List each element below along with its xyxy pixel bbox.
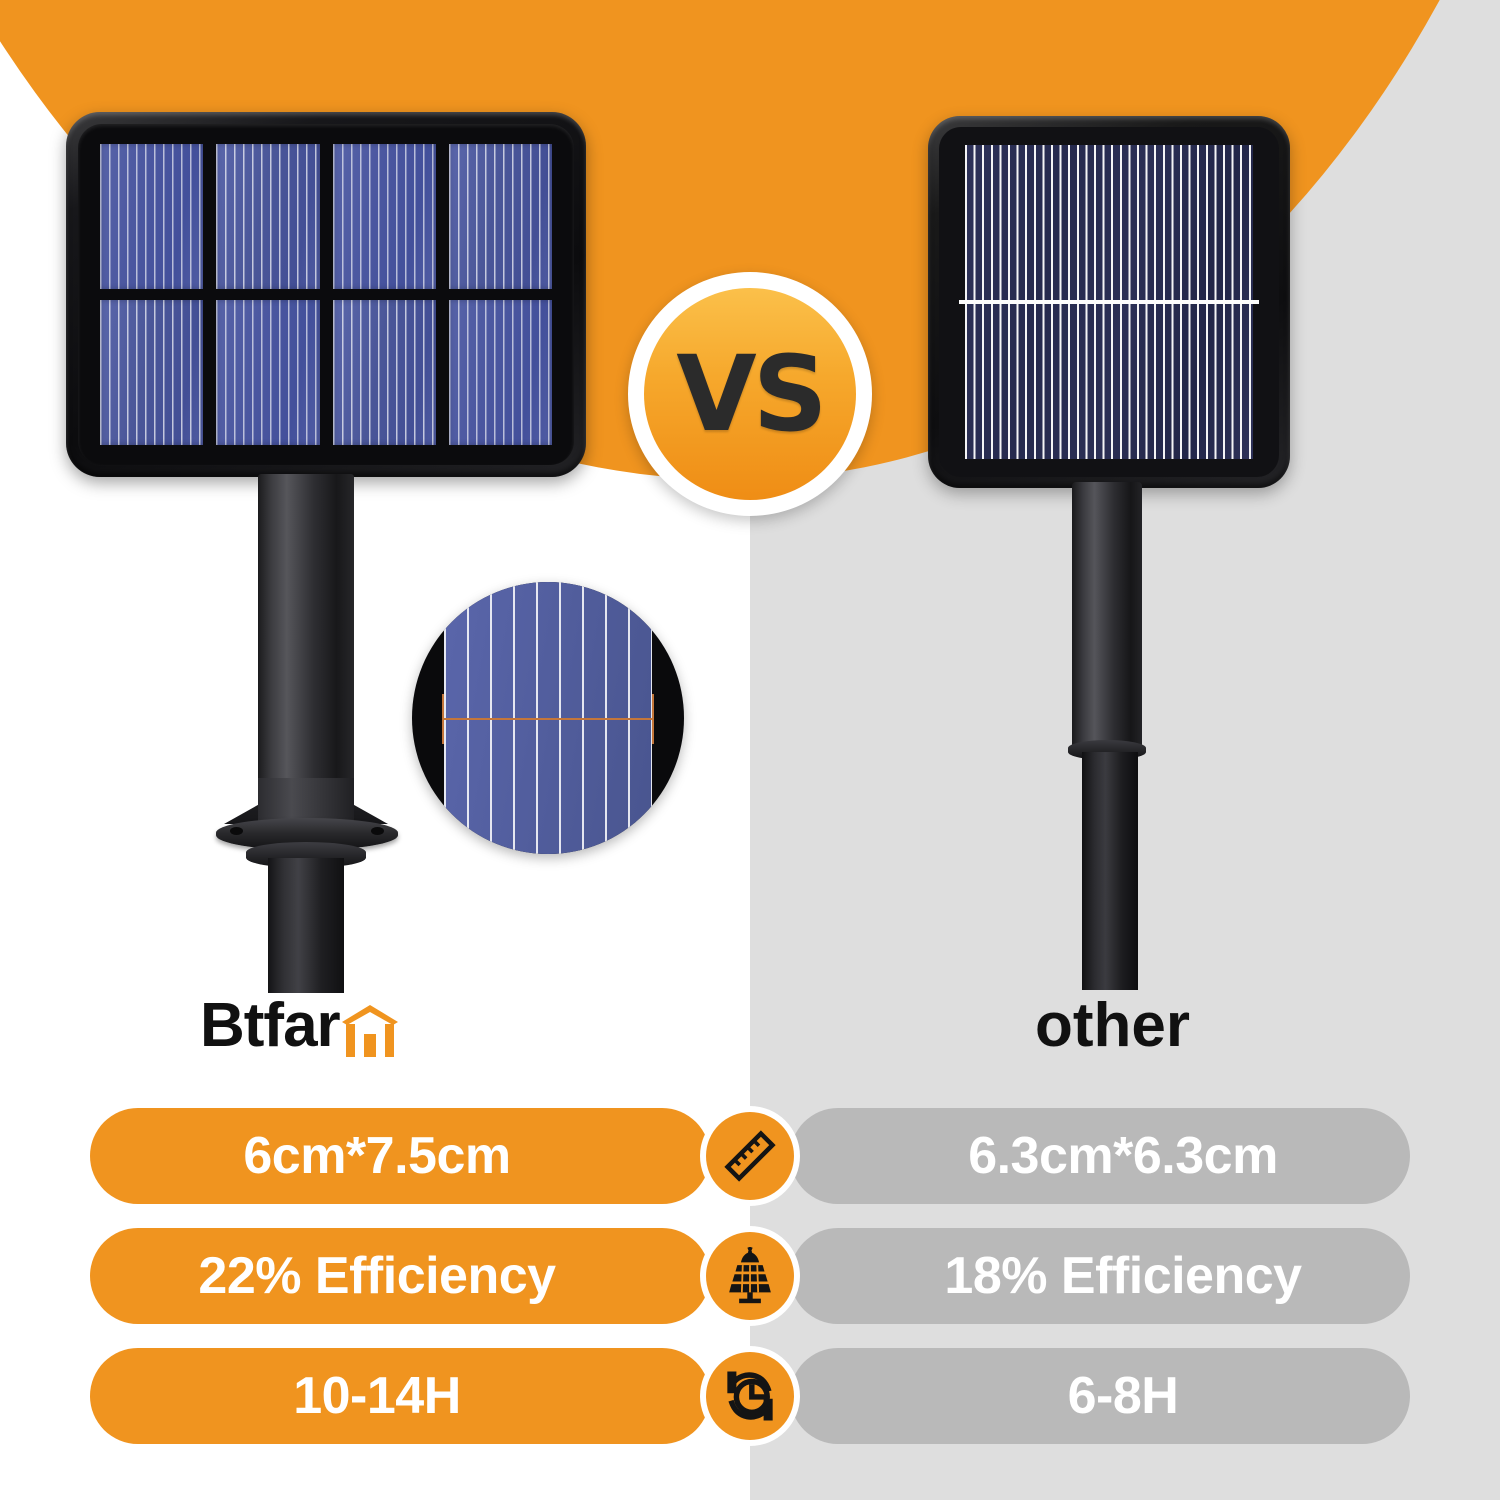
vs-label: VS: [676, 342, 823, 446]
comparison-row: 10-14H 6-8H: [0, 1348, 1500, 1444]
comparison-row: 22% Efficiency 18% Efficiency: [0, 1228, 1500, 1324]
solar-cell: [965, 145, 1253, 459]
solar-cell: [333, 144, 436, 289]
ground-stake-right: [1082, 752, 1138, 990]
vs-badge: VS: [628, 272, 872, 516]
spec-icon-badge: [700, 1346, 800, 1446]
panel-cell-grid-right: [939, 127, 1279, 477]
flange-hole: [230, 827, 243, 835]
spec-icon-badge: [700, 1106, 800, 1206]
busbar-line: [959, 300, 1259, 304]
solar-cell: [216, 144, 319, 289]
solar-cell: [100, 144, 203, 289]
spec-value-right: 6-8H: [790, 1348, 1410, 1444]
brand-wordmark: Btfar: [200, 995, 340, 1057]
dimension-line: [442, 718, 654, 720]
spec-value-left: 22% Efficiency: [90, 1228, 710, 1324]
pole-tube-right: [1072, 482, 1142, 754]
comparison-row: 6cm*7.5cm 6.3cm*6.3cm: [0, 1108, 1500, 1204]
solar-panel-other: [928, 116, 1290, 488]
comparison-table: 6cm*7.5cm 6.3cm*6.3cm: [0, 1108, 1500, 1468]
brand-label-btfarm: Btfar: [200, 995, 399, 1057]
dimension-tick: [442, 694, 444, 744]
spec-value-left: 6cm*7.5cm: [90, 1108, 710, 1204]
spec-value-left: 10-14H: [90, 1348, 710, 1444]
comparison-infographic: VS Btfar other 6cm*7.5cm 6.3cm*6.3cm: [0, 0, 1500, 1500]
ground-stake-left: [268, 858, 344, 993]
flange-hole: [371, 827, 384, 835]
solar-cell: [100, 300, 203, 445]
solar-cell: [449, 300, 552, 445]
house-icon: [340, 1003, 399, 1057]
spec-icon-badge: [700, 1226, 800, 1326]
dimension-tick: [652, 694, 654, 744]
clock-refresh-icon: [706, 1352, 794, 1440]
solar-cell: [333, 300, 436, 445]
solar-cell: [449, 144, 552, 289]
vs-badge-disc: VS: [644, 288, 856, 500]
solar-cell: [216, 300, 319, 445]
solar-panel-btfarm: [66, 112, 586, 477]
panel-cell-grid-left: [78, 124, 574, 465]
spec-value-right: 18% Efficiency: [790, 1228, 1410, 1324]
brand-label-other: other: [1035, 995, 1190, 1057]
solar-panel-icon: [706, 1232, 794, 1320]
pole-tube-left: [258, 474, 354, 824]
cell-closeup-callout: [412, 582, 684, 854]
spec-value-right: 6.3cm*6.3cm: [790, 1108, 1410, 1204]
ruler-icon: [706, 1112, 794, 1200]
